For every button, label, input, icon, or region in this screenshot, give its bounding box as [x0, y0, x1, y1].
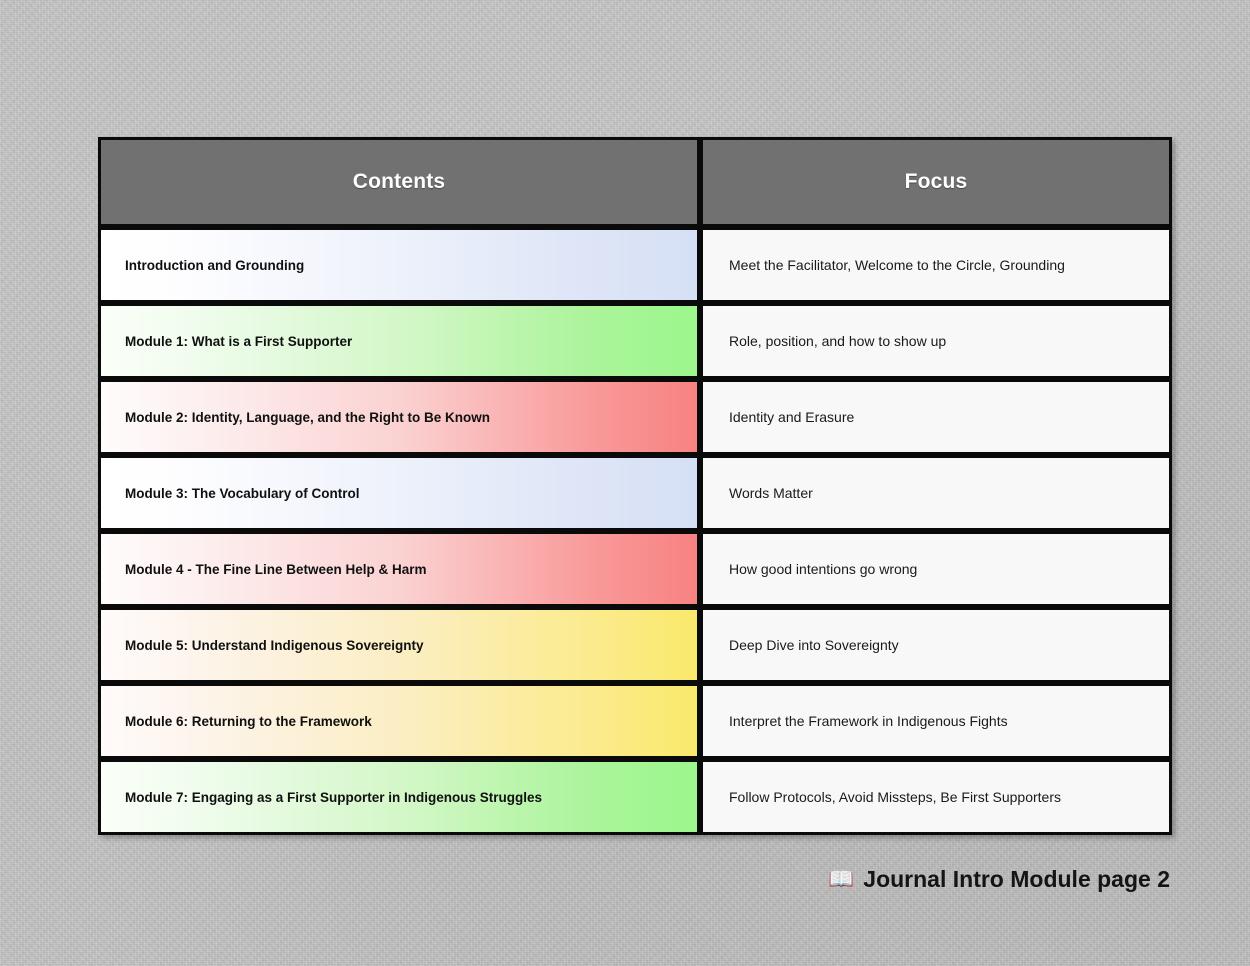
focus-cell: Meet the Facilitator, Welcome to the Cir… — [700, 227, 1172, 303]
table-row: Module 6: Returning to the Framework Int… — [98, 683, 1172, 759]
contents-cell: Module 7: Engaging as a First Supporter … — [98, 759, 700, 835]
open-book-icon: 📖 — [828, 869, 854, 890]
slide-footer: 📖 Journal Intro Module page 2 — [828, 866, 1170, 893]
table-header-row: Contents Focus — [98, 137, 1172, 227]
focus-cell: Interpret the Framework in Indigenous Fi… — [700, 683, 1172, 759]
table-row: Module 4 - The Fine Line Between Help & … — [98, 531, 1172, 607]
table-row: Module 1: What is a First Supporter Role… — [98, 303, 1172, 379]
contents-cell: Module 6: Returning to the Framework — [98, 683, 700, 759]
contents-cell: Introduction and Grounding — [98, 227, 700, 303]
focus-cell: How good intentions go wrong — [700, 531, 1172, 607]
table-row: Module 3: The Vocabulary of Control Word… — [98, 455, 1172, 531]
contents-cell: Module 3: The Vocabulary of Control — [98, 455, 700, 531]
focus-cell: Role, position, and how to show up — [700, 303, 1172, 379]
table-row: Module 5: Understand Indigenous Sovereig… — [98, 607, 1172, 683]
focus-cell: Follow Protocols, Avoid Missteps, Be Fir… — [700, 759, 1172, 835]
focus-cell: Identity and Erasure — [700, 379, 1172, 455]
table-body: Introduction and Grounding Meet the Faci… — [98, 227, 1172, 835]
contents-cell: Module 5: Understand Indigenous Sovereig… — [98, 607, 700, 683]
footer-label: Journal Intro Module page 2 — [863, 866, 1170, 893]
column-header-focus: Focus — [700, 137, 1172, 227]
contents-cell: Module 1: What is a First Supporter — [98, 303, 700, 379]
focus-cell: Words Matter — [700, 455, 1172, 531]
table-row: Module 2: Identity, Language, and the Ri… — [98, 379, 1172, 455]
contents-cell: Module 2: Identity, Language, and the Ri… — [98, 379, 700, 455]
contents-cell: Module 4 - The Fine Line Between Help & … — [98, 531, 700, 607]
table-row: Module 7: Engaging as a First Supporter … — [98, 759, 1172, 835]
contents-focus-table: Contents Focus Introduction and Groundin… — [98, 137, 1172, 835]
focus-cell: Deep Dive into Sovereignty — [700, 607, 1172, 683]
slide-canvas: Contents Focus Introduction and Groundin… — [0, 0, 1250, 966]
column-header-contents: Contents — [98, 137, 700, 227]
table-row: Introduction and Grounding Meet the Faci… — [98, 227, 1172, 303]
